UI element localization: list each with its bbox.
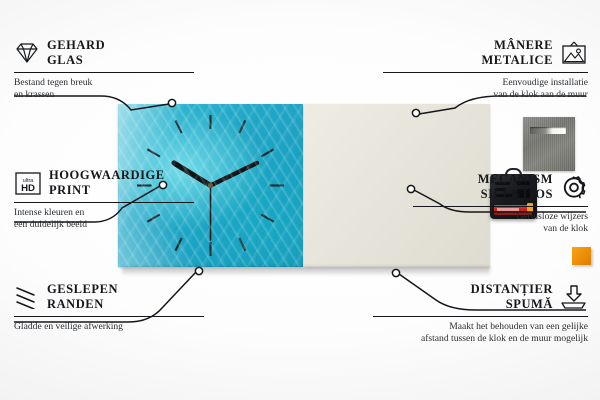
feature-title: MECANISM SILENȚIOS xyxy=(478,172,553,203)
diamond-icon xyxy=(14,41,40,65)
feature-handles: MÂNERE METALICE Eenvoudige installatie v… xyxy=(383,38,588,102)
feature-subtitle: Eenvoudige installatie van de klok aan d… xyxy=(383,77,588,103)
product-shadow xyxy=(122,267,490,276)
feature-title: GESLEPEN RANDEN xyxy=(47,282,118,313)
feature-mechanism: MECANISM SILENȚIOS Geruisloze wijzers va… xyxy=(413,172,588,236)
wall-hanging-frame-icon xyxy=(560,41,588,66)
feature-subtitle: Intense kleuren en een duidelijk beeld xyxy=(14,207,194,233)
feature-subtitle: Geruisloze wijzers van de klok xyxy=(413,211,588,237)
divider xyxy=(413,206,588,207)
feature-title: GEHARD GLAS xyxy=(47,38,105,69)
hanger-keyhole-slot xyxy=(530,127,566,134)
feature-glass: GEHARD GLAS Bestand tegen breuk en krass… xyxy=(14,38,194,102)
feature-title: HOOGWAARDIGE PRINT xyxy=(49,168,165,199)
bevelled-edges-icon xyxy=(14,285,40,309)
divider xyxy=(14,72,194,73)
feature-edges: GESLEPEN RANDEN Gladde en veilige afwerk… xyxy=(14,282,204,333)
feature-subtitle: Bestand tegen breuk en krassen xyxy=(14,77,194,103)
feature-title: DISTANȚIER SPUMĂ xyxy=(471,282,553,313)
ultra-hd-icon-large-text: HD xyxy=(21,183,35,194)
metal-hanger-plate xyxy=(523,117,575,171)
infographic-canvas: GEHARD GLAS Bestand tegen breuk en krass… xyxy=(0,0,600,400)
feature-title: MÂNERE METALICE xyxy=(481,38,553,69)
ultra-hd-icon: ultra HD xyxy=(14,171,42,196)
orange-foam-spacer xyxy=(572,247,591,265)
gear-icon xyxy=(560,174,588,201)
feature-spacer: DISTANȚIER SPUMĂ Maakt het behouden van … xyxy=(373,282,588,346)
feature-subtitle: Maakt het behouden van een gelijke afsta… xyxy=(373,321,588,347)
divider xyxy=(14,202,194,203)
foam-spacer-arrow-icon xyxy=(560,284,588,310)
feature-print: ultra HD HOOGWAARDIGE PRINT Intense kleu… xyxy=(14,168,194,232)
divider xyxy=(14,316,204,317)
feature-subtitle: Gladde en veilige afwerking xyxy=(14,321,204,334)
divider xyxy=(373,316,588,317)
divider xyxy=(383,72,588,73)
